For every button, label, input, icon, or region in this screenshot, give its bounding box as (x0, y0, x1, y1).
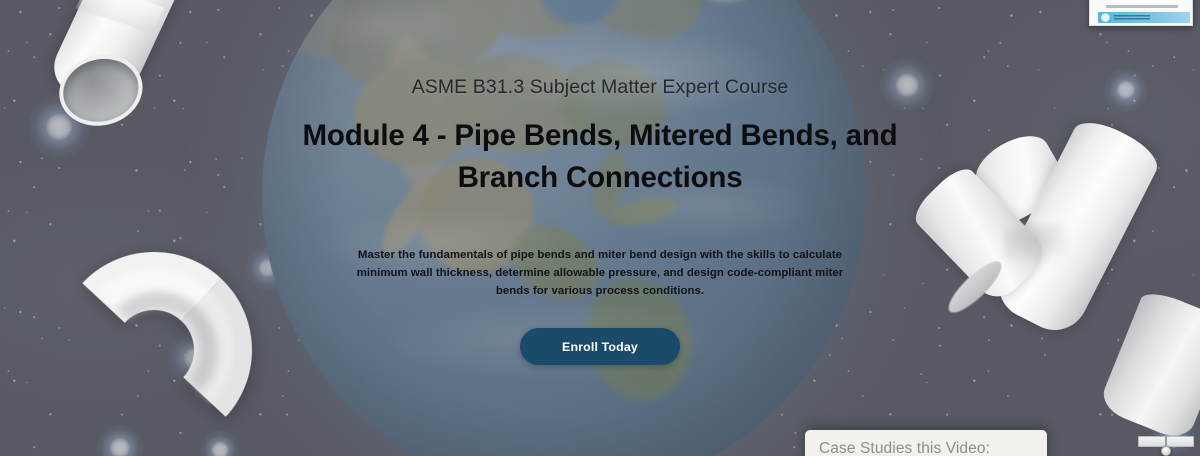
enroll-today-button[interactable]: Enroll Today (520, 328, 680, 365)
slide-header-line (1106, 5, 1178, 8)
slider-handle-icon[interactable] (1138, 432, 1194, 456)
hero-stage: ASME B31.3 Subject Matter Expert Course … (0, 0, 1200, 456)
case-studies-card[interactable]: Case Studies this Video: (805, 430, 1047, 456)
page-title: Module 4 - Pipe Bends, Mitered Bends, an… (280, 115, 920, 201)
hero-description: Master the fundamentals of pipe bends an… (354, 246, 846, 300)
course-eyebrow: ASME B31.3 Subject Matter Expert Course (412, 78, 789, 98)
slide-text-lines (1114, 15, 1150, 21)
slider-knob[interactable] (1161, 446, 1171, 456)
slide-logo-badge (1101, 13, 1110, 22)
slide-thumbnail-icon[interactable] (1089, 0, 1193, 26)
case-studies-title: Case Studies this Video: (819, 440, 990, 456)
hero-content: ASME B31.3 Subject Matter Expert Course … (0, 0, 1200, 456)
